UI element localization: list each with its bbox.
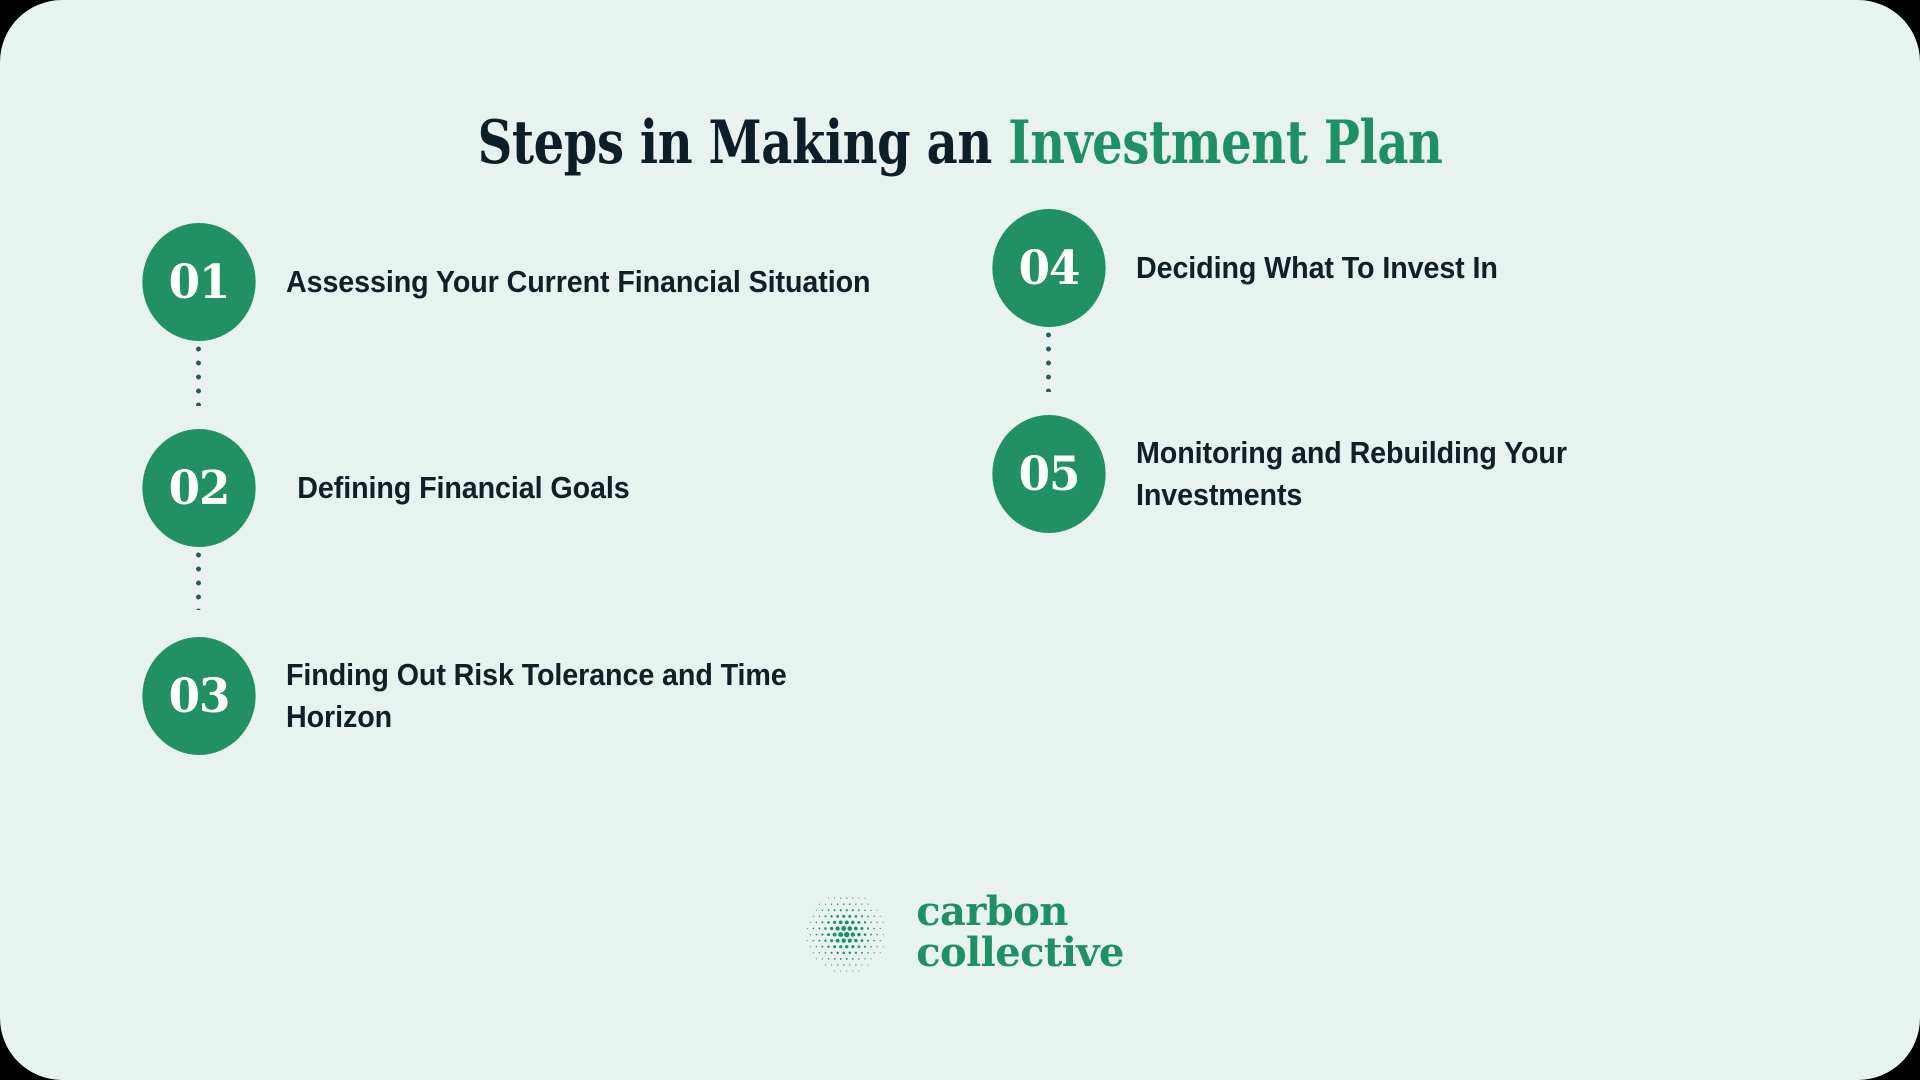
step-number: 02 [169,461,230,516]
step-number: 01 [169,255,230,310]
step-item[interactable]: 01 Assessing Your Current Financial Situ… [140,223,1000,341]
step-number: 05 [1019,447,1080,502]
step-label: Finding Out Risk Tolerance and Time Hori… [286,654,888,738]
step-number-badge: 05 [992,415,1105,533]
brand-name-line-1: carbon [916,892,1124,933]
brand-logo-text: carbon collective [916,892,1124,974]
infographic-poster: Steps in Making an Investment Plan 01 As… [0,0,1920,1080]
brand-name-line-2: collective [916,933,1124,974]
step-item[interactable]: 04 Deciding What To Invest In [990,209,1850,327]
step-label: Monitoring and Rebuilding Your Investmen… [1136,432,1738,516]
step-number-badge: 01 [142,223,255,341]
brand-logo[interactable]: carbon collective [796,884,1124,982]
halftone-dot-circle-icon [796,884,894,982]
step-number-badge: 04 [992,209,1105,327]
step-item[interactable]: 02 Defining Financial Goals [140,429,1000,547]
step-item[interactable]: 05 Monitoring and Rebuilding Your Invest… [990,415,1850,533]
step-number-badge: 03 [142,637,255,755]
step-number: 04 [1019,241,1080,296]
step-number-badge: 02 [142,429,255,547]
step-number: 03 [169,669,230,724]
step-label: Assessing Your Current Financial Situati… [286,261,888,303]
step-label: Deciding What To Invest In [1136,247,1738,289]
step-label: Defining Financial Goals [286,467,899,509]
step-item[interactable]: 03 Finding Out Risk Tolerance and Time H… [140,637,1000,755]
connector-04-05 [1046,328,1051,392]
connector-02-03 [196,548,201,610]
connector-01-02 [196,342,201,406]
